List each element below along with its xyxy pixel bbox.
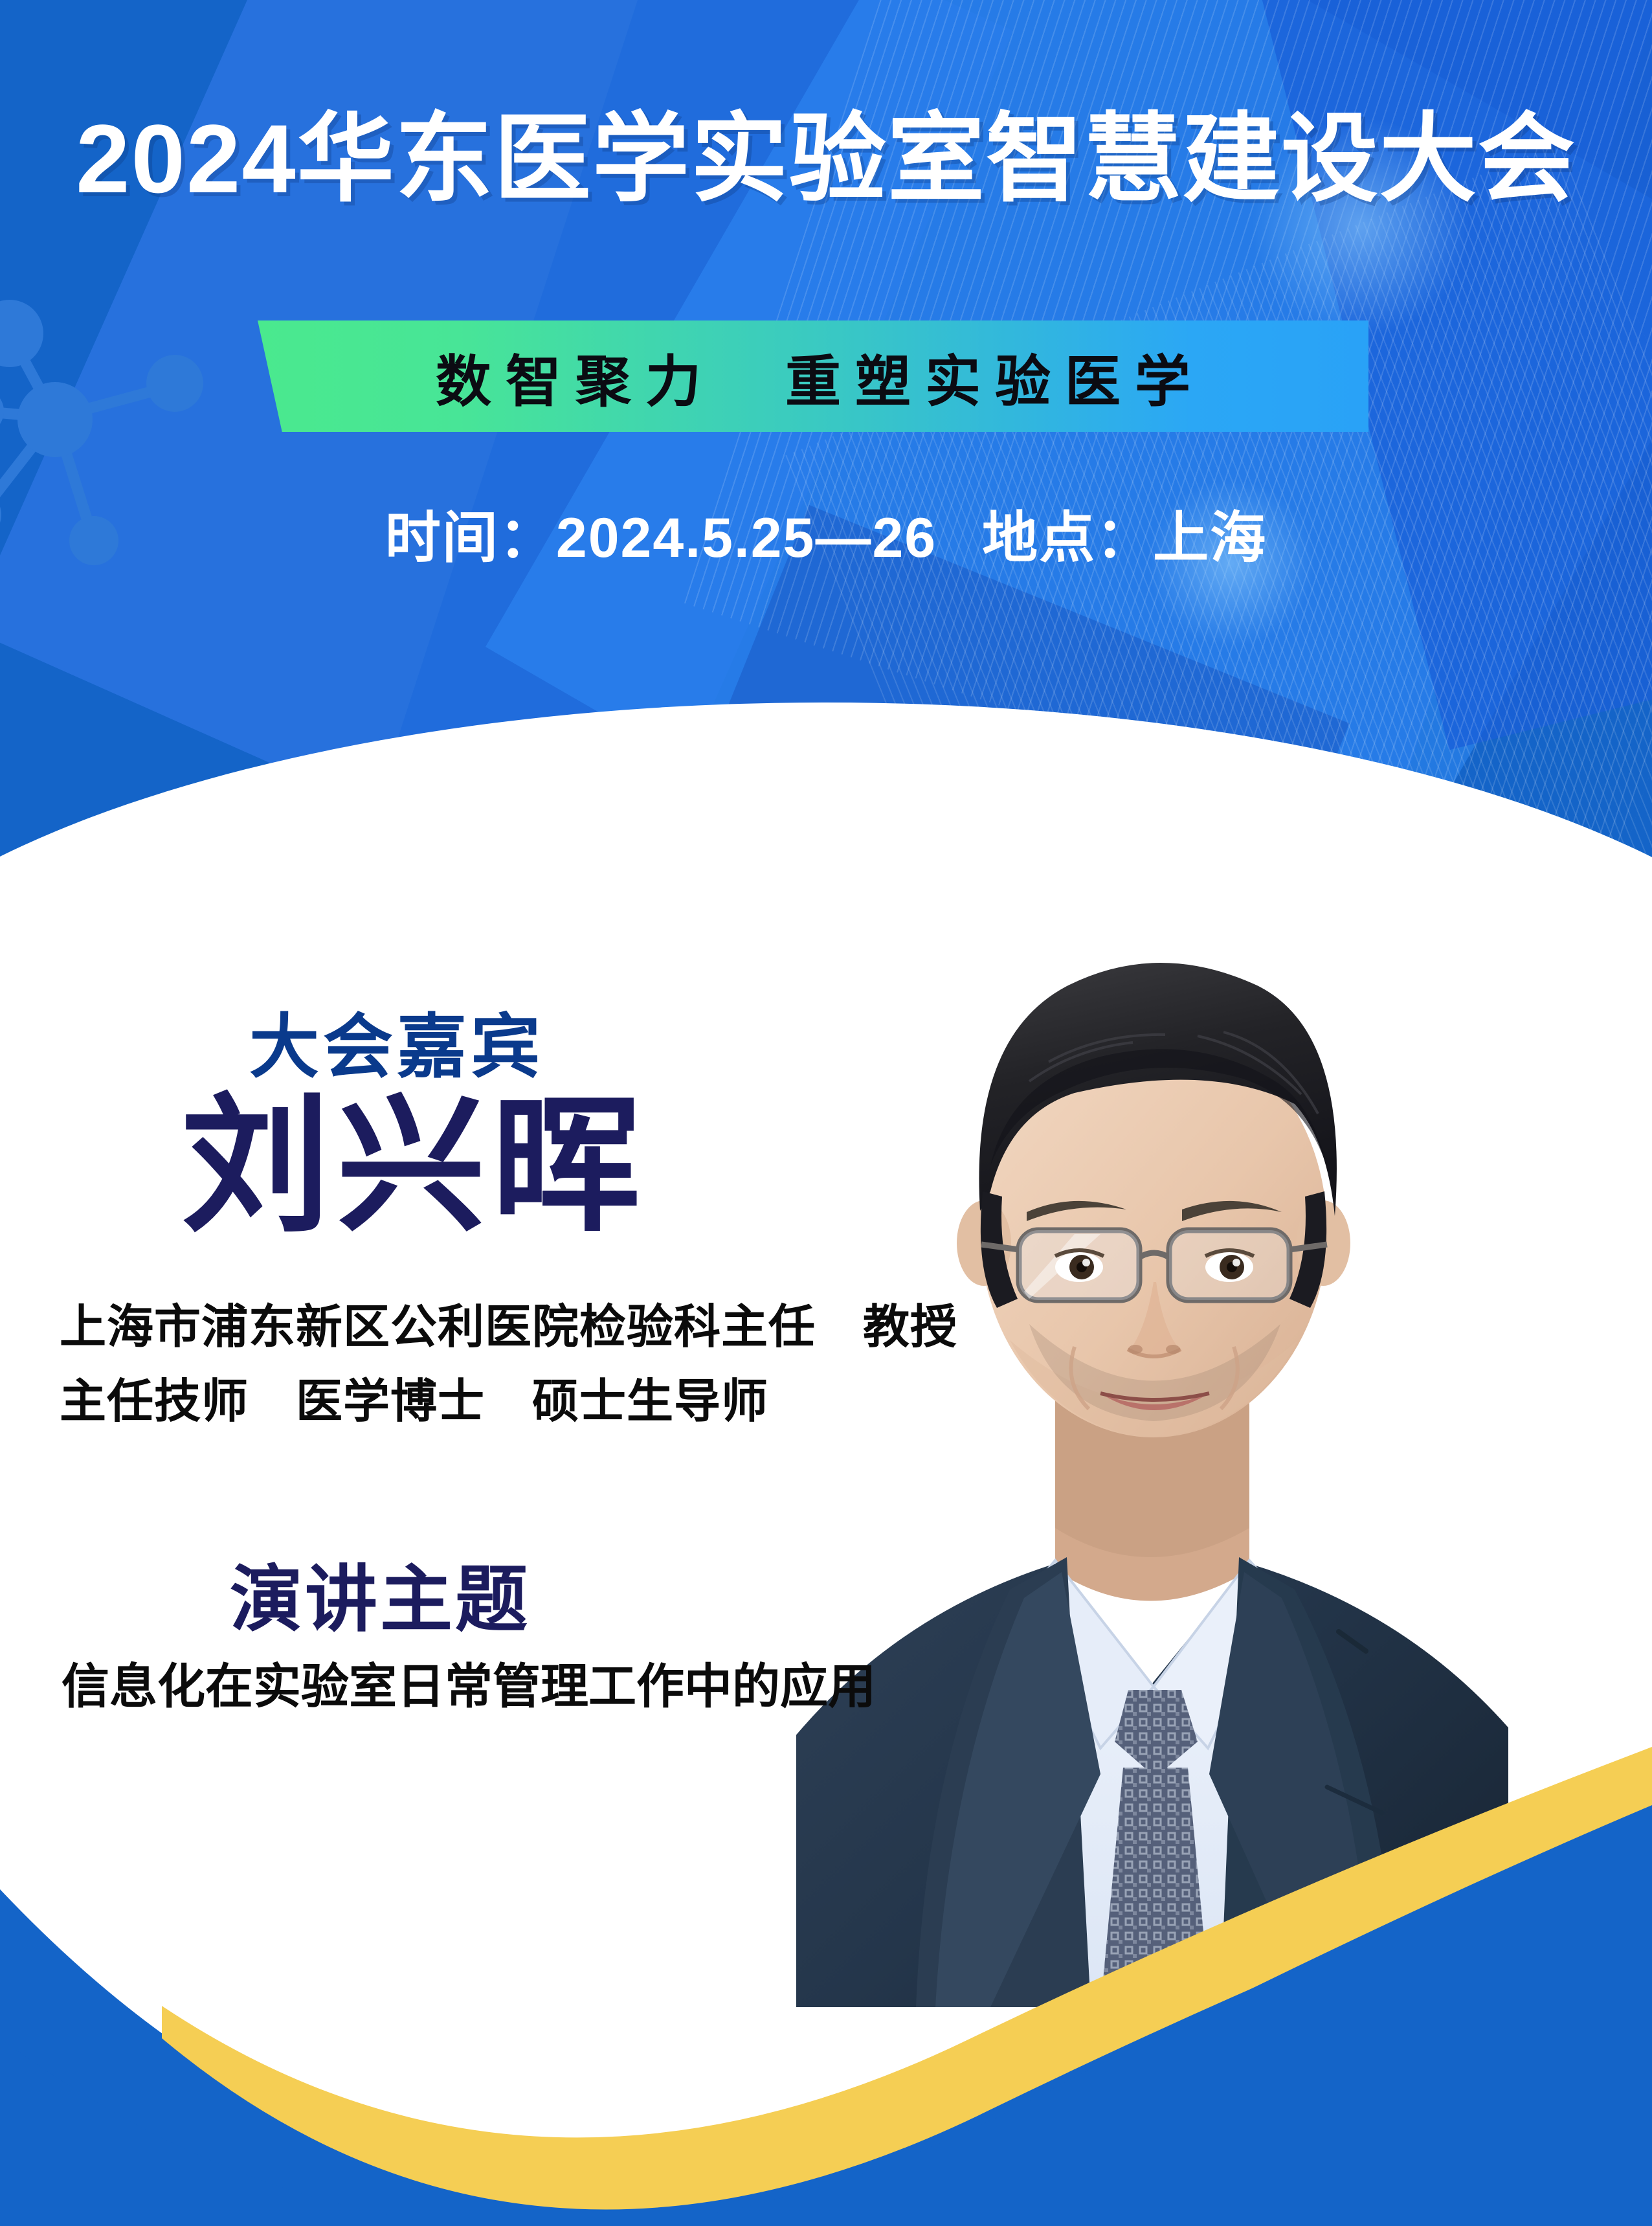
conference-poster: 2024华东医学实验室智慧建设大会 数智聚力 重塑实验医学 时间：2024.5.… [0,0,1652,2226]
speaker-credentials-line-1: 上海市浦东新区公利医院检验科主任 教授 [60,1288,957,1356]
topic-text: 信息化在实验室日常管理工作中的应用 [61,1648,876,1717]
date-value: 2024.5.25—26 [556,507,937,569]
page-title: 2024华东医学实验室智慧建设大会 [0,110,1652,207]
topic-label: 演讲主题 [230,1541,530,1646]
speaker-portrait [796,777,1508,2007]
subtitle-banner: 数智聚力 重塑实验医学 [258,320,1368,432]
speaker-name: 刘兴晖 [181,1088,647,1244]
speaker-credentials-line-2: 主任技师 医学博士 硕士生导师 [60,1363,768,1431]
event-meta: 时间：2024.5.25—26地点：上海 [0,492,1652,573]
guest-label: 大会嘉宾 [249,991,544,1092]
location-label: 地点： [982,507,1153,569]
location-value: 上海 [1153,507,1267,569]
date-label: 时间： [385,507,556,569]
subtitle-text: 数智聚力 重塑实验医学 [421,336,1205,417]
